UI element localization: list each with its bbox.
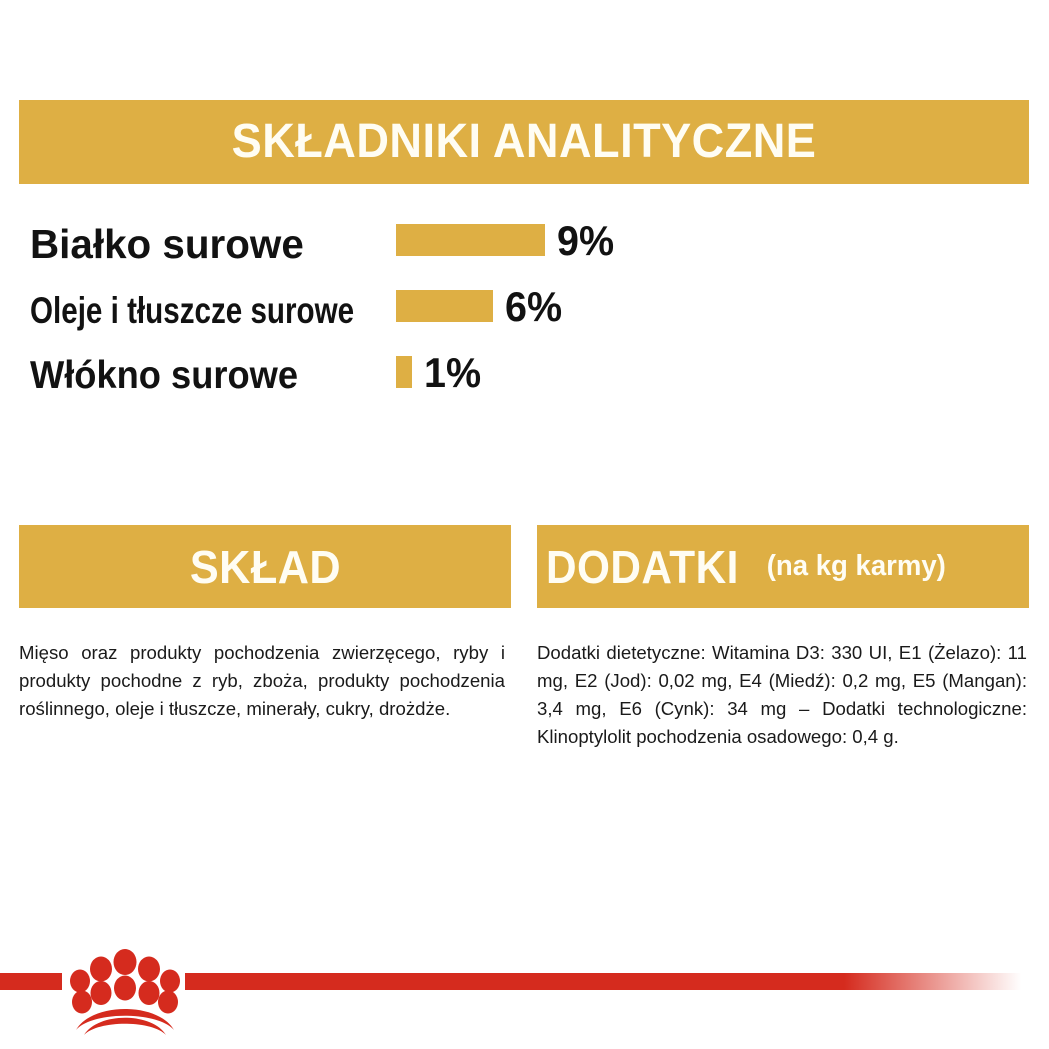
constituent-bar [396, 356, 412, 388]
royal-canin-crown-icon [62, 940, 188, 1040]
additives-title: DODATKI [546, 544, 739, 590]
constituent-row: Białko surowe 9% [0, 206, 1049, 272]
analytical-constituents-title: SKŁADNIKI ANALITYCZNE [232, 118, 817, 166]
constituent-label: Białko surowe [30, 224, 348, 265]
constituent-value: 9% [557, 220, 614, 262]
constituent-row: Włókno surowe 1% [0, 338, 1049, 404]
footer-rule-left [0, 973, 62, 990]
additives-subtitle: (na kg karmy) [766, 552, 945, 581]
composition-title: SKŁAD [189, 544, 340, 590]
analytical-constituents-header: SKŁADNIKI ANALITYCZNE [19, 100, 1029, 184]
constituent-bar [396, 290, 493, 322]
constituent-label: Włókno surowe [30, 356, 330, 395]
constituent-value: 1% [424, 352, 481, 394]
composition-header: SKŁAD [19, 525, 511, 608]
constituent-row: Oleje i tłuszcze surowe 6% [0, 272, 1049, 338]
additives-body-text: Dodatki dietetyczne: Witamina D3: 330 UI… [537, 639, 1027, 752]
additives-header: DODATKI (na kg karmy) [537, 525, 1029, 608]
constituent-value: 6% [505, 286, 562, 328]
constituent-bar [396, 224, 545, 256]
footer-brand-bar [0, 940, 1049, 1049]
analytical-constituents-chart: Białko surowe 9% Oleje i tłuszcze surowe… [0, 206, 1049, 404]
composition-body-text: Mięso oraz produkty pochodzenia zwierzęc… [19, 639, 505, 724]
footer-rule-right [185, 973, 1030, 990]
constituent-label: Oleje i tłuszcze surowe [30, 292, 288, 329]
